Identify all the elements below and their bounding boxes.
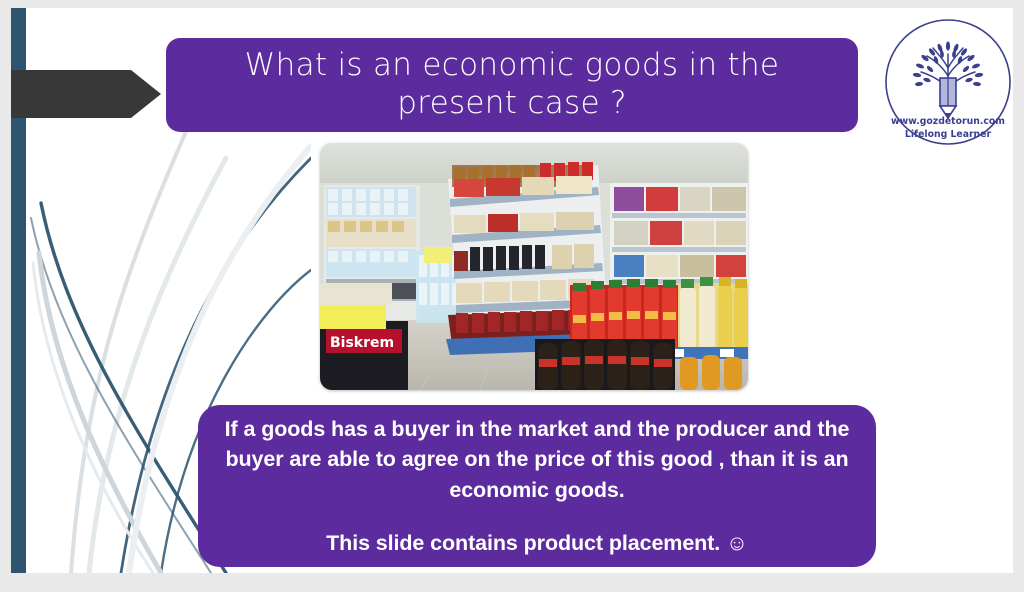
logo-url-text: www.gozdetorun.com: [891, 116, 1005, 127]
product-placement-note: This slide contains product placement. ☺: [326, 528, 748, 559]
arrow-icon: [11, 70, 161, 118]
explanation-box: If a goods has a buyer in the market and…: [198, 405, 876, 567]
title-banner: What is an economic goods in the present…: [166, 38, 858, 132]
slide-surface: What is an economic goods in the present…: [11, 8, 1013, 573]
supermarket-photo: Biskrem: [320, 143, 748, 390]
slide-canvas: What is an economic goods in the present…: [0, 0, 1024, 592]
page-title: What is an economic goods in the present…: [166, 47, 858, 123]
logo-graphic: www.gozdetorun.com Lifelong Learner: [880, 14, 1013, 150]
supermarket-photo-graphic: Biskrem: [320, 143, 748, 390]
logo-tagline-text: Lifelong Learner: [905, 129, 992, 140]
brand-logo[interactable]: www.gozdetorun.com Lifelong Learner: [880, 14, 1013, 150]
explanation-paragraph: If a goods has a buyer in the market and…: [198, 414, 876, 506]
svg-text:Biskrem: Biskrem: [330, 335, 394, 351]
